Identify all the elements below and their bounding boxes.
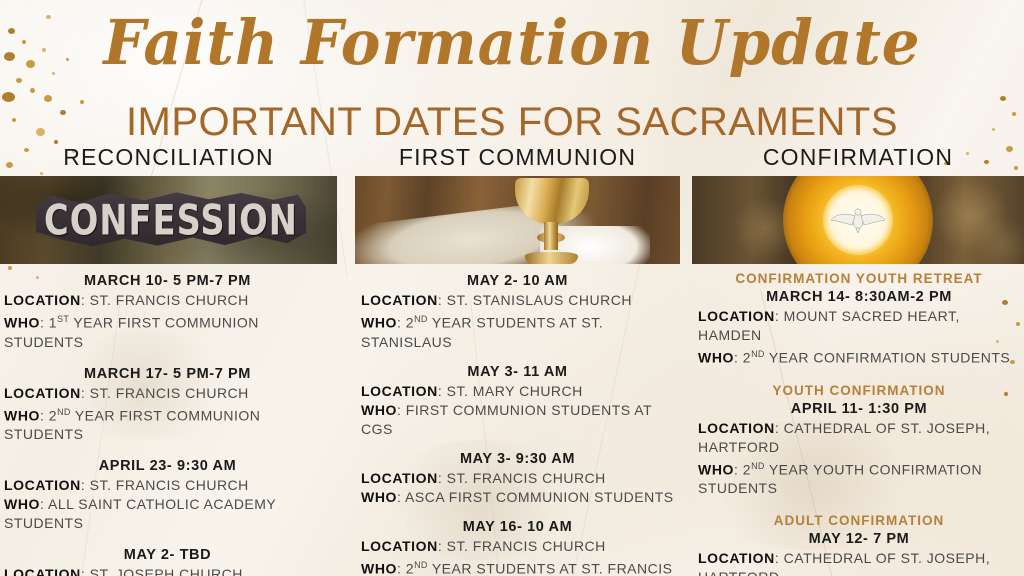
location-value: ST. FRANCIS CHURCH	[447, 538, 606, 554]
who-label: WHO	[698, 350, 734, 366]
who-value: YEAR YOUTH CONFIRMATION STUDENTS	[698, 461, 982, 496]
who-value: YEAR STUDENTS AT ST. STANISLAUS	[361, 315, 603, 350]
location-value: ST. MARY CHURCH	[447, 383, 583, 399]
event-location: LOCATION: ST. FRANCIS CHURCH	[4, 291, 331, 310]
event-who: WHO: 2ND YEAR STUDENTS AT ST. STANISLAUS	[361, 310, 674, 352]
event-who: WHO: FIRST COMMUNION STUDENTS AT CGS	[361, 401, 674, 439]
location-label: LOCATION	[4, 566, 81, 576]
event-date: MAY 2- 10 AM	[361, 272, 674, 291]
event-item: MAY 3- 9:30 AM LOCATION: ST. FRANCIS CHU…	[361, 450, 674, 507]
event-who: WHO: 2ND YEAR STUDENTS AT ST. FRANCIS	[361, 556, 674, 576]
event-location: LOCATION: ST. STANISLAUS CHURCH	[361, 291, 674, 310]
event-item: MAY 2- 10 AM LOCATION: ST. STANISLAUS CH…	[361, 272, 674, 352]
who-ordinal-suffix: ST	[57, 314, 69, 324]
location-value: ST. FRANCIS CHURCH	[90, 292, 249, 308]
chalice-foot-shape	[525, 252, 578, 264]
chalice-photo	[355, 176, 680, 264]
location-value: ST. FRANCIS CHURCH	[447, 470, 606, 486]
location-label: LOCATION	[4, 385, 81, 401]
location-label: LOCATION	[361, 538, 438, 554]
who-value: YEAR FIRST COMMUNION STUDENTS	[4, 407, 260, 442]
event-date: MARCH 17- 5 PM-7 PM	[4, 365, 331, 384]
event-date: APRIL 23- 9:30 AM	[4, 457, 331, 476]
event-who: WHO: ALL SAINT CATHOLIC ACADEMY STUDENTS	[4, 495, 331, 533]
location-label: LOCATION	[361, 383, 438, 399]
event-item: MAY 2- TBD LOCATION: ST. JOSEPH CHURCH W…	[4, 546, 331, 576]
event-date: MAY 16- 10 AM	[361, 518, 674, 537]
location-label: LOCATION	[4, 477, 81, 493]
holy-spirit-dove-photo	[692, 176, 1024, 264]
location-label: LOCATION	[698, 420, 775, 436]
column-heading-confirmation: CONFIRMATION	[692, 142, 1024, 172]
event-location: LOCATION: ST. FRANCIS CHURCH	[4, 476, 331, 495]
column-heading-reconciliation: RECONCILIATION	[0, 142, 337, 172]
events-list-confirmation: CONFIRMATION YOUTH RETREAT MARCH 14- 8:3…	[692, 264, 1024, 576]
location-label: LOCATION	[4, 292, 81, 308]
event-date: MAY 12- 7 PM	[698, 530, 1020, 549]
who-label: WHO	[698, 461, 734, 477]
event-item: MARCH 10- 5 PM-7 PM LOCATION: ST. FRANCI…	[4, 272, 331, 352]
column-first-communion: FIRST COMMUNION MAY 2- 10 AM LOCATION: S…	[355, 142, 680, 576]
location-value: ST. FRANCIS CHURCH	[90, 477, 249, 493]
who-ordinal-suffix: ND	[751, 349, 765, 359]
events-list-reconciliation: MARCH 10- 5 PM-7 PM LOCATION: ST. FRANCI…	[0, 264, 337, 576]
event-who: WHO: 2ND YEAR YOUTH CONFIRMATION STUDENT…	[698, 457, 1020, 499]
who-label: WHO	[4, 315, 40, 331]
confession-photo: CONFESSION	[0, 176, 337, 264]
event-section-title: YOUTH CONFIRMATION	[698, 382, 1020, 400]
event-who: WHO: 2ND YEAR FIRST COMMUNION STUDENTS	[4, 403, 331, 445]
chalice-cup-shape	[515, 178, 589, 224]
who-label: WHO	[361, 315, 397, 331]
event-location: LOCATION: ST. FRANCIS CHURCH	[361, 469, 674, 488]
event-date: MARCH 10- 5 PM-7 PM	[4, 272, 331, 291]
event-location: LOCATION: ST. FRANCIS CHURCH	[4, 384, 331, 403]
who-value: FIRST COMMUNION STUDENTS AT CGS	[361, 402, 652, 437]
confession-caption: CONFESSION	[33, 182, 308, 256]
who-ordinal: 2	[743, 461, 751, 477]
who-value: ASCA FIRST COMMUNION STUDENTS	[405, 489, 674, 505]
event-date: MARCH 14- 8:30AM-2 PM	[698, 288, 1020, 307]
event-item: MAY 3- 11 AM LOCATION: ST. MARY CHURCH W…	[361, 363, 674, 439]
event-date: MAY 3- 9:30 AM	[361, 450, 674, 469]
who-label: WHO	[4, 407, 40, 423]
location-value: ST. FRANCIS CHURCH	[90, 385, 249, 401]
who-ordinal: 2	[49, 407, 57, 423]
who-ordinal: 1	[49, 315, 57, 331]
event-item: MAY 16- 10 AM LOCATION: ST. FRANCIS CHUR…	[361, 518, 674, 576]
event-section-title: ADULT CONFIRMATION	[698, 512, 1020, 530]
event-location: LOCATION: MOUNT SACRED HEART, HAMDEN	[698, 307, 1020, 345]
event-who: WHO: ASCA FIRST COMMUNION STUDENTS	[361, 488, 674, 507]
who-label: WHO	[361, 402, 397, 418]
page-title: Faith Formation Update	[20, 4, 1003, 82]
event-who: WHO: 1ST YEAR FIRST COMMUNION STUDENTS	[4, 310, 331, 352]
who-value: YEAR CONFIRMATION STUDENTS	[765, 350, 1011, 366]
who-ordinal: 2	[406, 315, 414, 331]
event-date: MAY 2- TBD	[4, 546, 331, 565]
who-label: WHO	[361, 560, 397, 576]
who-value: YEAR FIRST COMMUNION STUDENTS	[4, 315, 259, 350]
event-location: LOCATION: ST. FRANCIS CHURCH	[361, 537, 674, 556]
event-section-title: CONFIRMATION YOUTH RETREAT	[698, 270, 1020, 288]
location-label: LOCATION	[361, 292, 438, 308]
event-item: APRIL 23- 9:30 AM LOCATION: ST. FRANCIS …	[4, 457, 331, 533]
event-location: LOCATION: CATHEDRAL OF ST. JOSEPH, HARTF…	[698, 419, 1020, 457]
event-item: ADULT CONFIRMATION MAY 12- 7 PM LOCATION…	[698, 512, 1020, 576]
events-list-first-communion: MAY 2- 10 AM LOCATION: ST. STANISLAUS CH…	[355, 264, 680, 576]
who-ordinal-suffix: ND	[57, 407, 71, 417]
location-label: LOCATION	[698, 308, 775, 324]
event-item: CONFIRMATION YOUTH RETREAT MARCH 14- 8:3…	[698, 270, 1020, 368]
column-reconciliation: RECONCILIATION CONFESSION MARCH 10- 5 PM…	[0, 142, 337, 576]
location-label: LOCATION	[361, 470, 438, 486]
event-item: MARCH 17- 5 PM-7 PM LOCATION: ST. FRANCI…	[4, 365, 331, 445]
who-label: WHO	[4, 496, 40, 512]
event-date: MAY 3- 11 AM	[361, 363, 674, 382]
chalice-stem-shape	[544, 222, 558, 250]
column-heading-first-communion: FIRST COMMUNION	[355, 142, 680, 172]
who-ordinal-suffix: ND	[751, 461, 765, 471]
event-location: LOCATION: CATHEDRAL OF ST. JOSEPH, HARTF…	[698, 549, 1020, 576]
poster-canvas: Faith Formation Update IMPORTANT DATES F…	[0, 0, 1024, 576]
location-label: LOCATION	[698, 550, 775, 566]
who-value: YEAR STUDENTS AT ST. FRANCIS	[428, 560, 673, 576]
who-ordinal: 2	[743, 350, 751, 366]
column-confirmation: CONFIRMATION CONFIRMATION YOUTH RETREAT	[692, 142, 1024, 576]
torn-paper-shape: CONFESSION	[36, 190, 306, 248]
who-label: WHO	[361, 489, 397, 505]
event-who: WHO: 2ND YEAR CONFIRMATION STUDENTS	[698, 345, 1020, 368]
who-ordinal-suffix: ND	[414, 314, 428, 324]
event-location: LOCATION: ST. JOSEPH CHURCH	[4, 565, 331, 576]
who-ordinal: 2	[406, 560, 414, 576]
dove-icon	[830, 206, 886, 234]
who-value: ALL SAINT CATHOLIC ACADEMY STUDENTS	[4, 496, 276, 531]
event-item: YOUTH CONFIRMATION APRIL 11- 1:30 PM LOC…	[698, 382, 1020, 499]
page-subtitle: IMPORTANT DATES FOR SACRAMENTS	[0, 100, 1024, 144]
who-ordinal-suffix: ND	[414, 560, 428, 570]
event-location: LOCATION: ST. MARY CHURCH	[361, 382, 674, 401]
location-value: ST. JOSEPH CHURCH	[90, 566, 243, 576]
event-date: APRIL 11- 1:30 PM	[698, 400, 1020, 419]
location-value: ST. STANISLAUS CHURCH	[447, 292, 632, 308]
